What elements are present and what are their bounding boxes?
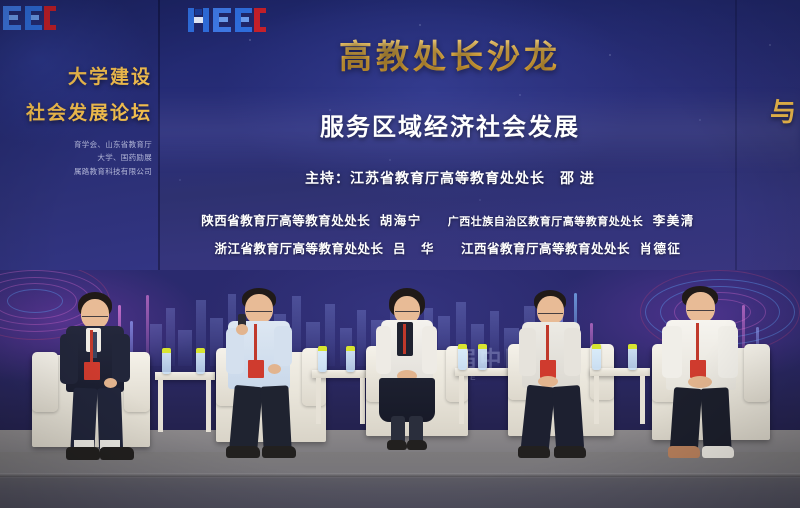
shoe	[66, 447, 100, 460]
table-leg	[594, 376, 599, 424]
glasses-icon	[687, 305, 714, 311]
water-bottle	[162, 348, 171, 374]
led-screen: 大学建设 社会发展论坛 育学会、山东省教育厅 大学、国药励展 属路教育科技有限公…	[0, 0, 800, 272]
panelist-row: 陕西省教育厅高等教育处处长 胡海宁 广西壮族自治区教育厅高等教育处处长 李美清	[0, 210, 800, 229]
heec-logo-icon-left-cropped	[0, 4, 56, 32]
table-leg	[158, 380, 163, 432]
arm	[564, 328, 581, 376]
stage-edge	[0, 473, 800, 477]
water-bottle	[346, 346, 355, 372]
leg	[260, 385, 291, 450]
panelist-entry: 陕西省教育厅高等教育处处长 胡海宁	[201, 210, 422, 229]
arm	[519, 328, 536, 376]
hand	[104, 378, 117, 388]
arm	[422, 326, 437, 374]
conference-panel-photo: 大学建设 社会发展论坛 育学会、山东省教育厅 大学、国药励展 属路教育科技有限公…	[0, 0, 800, 508]
leg	[552, 385, 584, 451]
leg	[670, 387, 702, 451]
arm	[112, 334, 130, 382]
glasses-icon	[538, 308, 563, 314]
hand	[268, 364, 281, 374]
shoe	[554, 446, 586, 458]
session-title: 高教处长沙龙	[0, 30, 800, 78]
session-subtitle: 服务区域经济社会发展	[0, 107, 800, 142]
panelist-name: 肖德征	[640, 242, 682, 256]
panelist-name: 李美清	[653, 214, 695, 228]
panelist-5	[662, 286, 762, 454]
panelist-title: 浙江省教育厅高等教育处处长	[214, 242, 383, 256]
panelist-title: 江西省教育厅高等教育处处长	[461, 242, 630, 256]
table-leg	[316, 378, 321, 424]
water-bottle	[592, 344, 601, 370]
shoe	[518, 446, 550, 458]
stage-floor	[0, 452, 800, 508]
panelist-entry: 浙江省教育厅高等教育处处长 吕 华	[214, 238, 435, 257]
panelist-title: 陕西省教育厅高等教育处处长	[201, 214, 370, 228]
shoe	[668, 446, 700, 458]
glasses-icon	[246, 306, 272, 312]
panelist-row: 浙江省教育厅高等教育处处长 吕 华 江西省教育厅高等教育处处长 肖德征	[0, 238, 800, 257]
leg	[700, 387, 731, 450]
arm	[718, 326, 738, 378]
water-bottle	[628, 344, 637, 370]
shoe	[226, 446, 260, 458]
shoe	[702, 446, 734, 458]
leg	[521, 385, 556, 452]
table-leg	[459, 376, 464, 424]
panelist-entry: 广西壮族自治区教育厅高等教育处处长 李美清	[448, 210, 695, 229]
skirt	[379, 378, 435, 422]
lanyard	[403, 324, 406, 354]
hands-clasped	[688, 376, 712, 388]
water-bottle	[458, 344, 467, 370]
panelist-title: 广西壮族自治区教育厅高等教育处处长	[448, 216, 644, 228]
arm	[376, 326, 391, 374]
panelist-name: 吕 华	[393, 242, 435, 256]
table-leg	[206, 380, 211, 432]
panelist-3	[375, 288, 461, 450]
moderator-line: 主持：江苏省教育厅高等教育处处长 邵 进	[0, 168, 800, 188]
glasses-icon	[82, 311, 108, 317]
left-panel-small-line-2: 大学、国药励展	[97, 152, 152, 163]
name-badge	[84, 362, 100, 380]
panelist-name: 胡海宁	[380, 214, 422, 228]
panelist-entry: 江西省教育厅高等教育处处长 肖德征	[461, 238, 682, 257]
table-leg	[360, 378, 365, 424]
name-badge	[248, 360, 264, 378]
hand	[236, 324, 248, 335]
lanyard	[696, 323, 699, 361]
lanyard	[254, 324, 257, 362]
shoe	[407, 440, 427, 450]
shoe	[100, 447, 134, 460]
water-bottle	[196, 348, 205, 374]
lanyard	[90, 330, 93, 364]
armchair-arm	[32, 352, 58, 412]
water-bottle	[478, 344, 487, 370]
glasses-icon	[395, 307, 419, 312]
leg	[229, 385, 262, 451]
shoe	[262, 446, 296, 458]
panelist-1	[60, 292, 150, 450]
arm	[60, 334, 78, 384]
panelist-2	[224, 288, 320, 452]
arm	[662, 326, 682, 378]
right-edge-gold-character: 与	[770, 92, 798, 129]
lanyard	[546, 325, 549, 361]
shoe	[387, 440, 407, 450]
water-bottle	[318, 346, 327, 372]
table-leg	[640, 376, 645, 424]
arm	[274, 326, 292, 366]
